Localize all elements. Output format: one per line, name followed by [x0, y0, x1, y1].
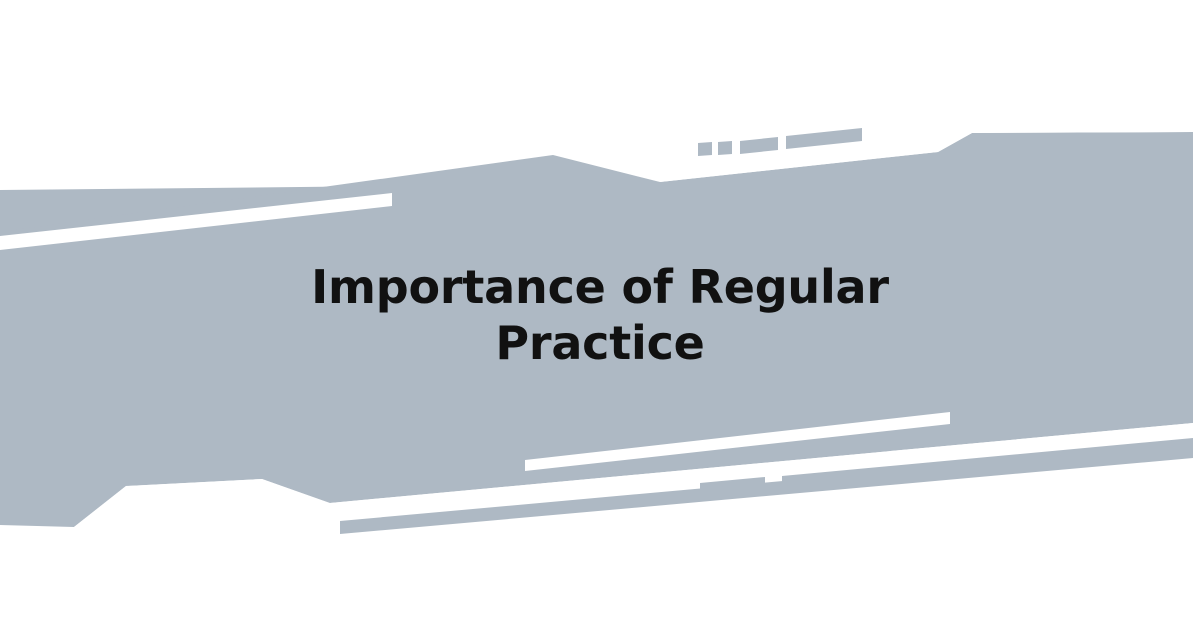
top-dash-mark-1: [698, 142, 712, 156]
banner-background-art: [0, 0, 1200, 630]
banner-graphic: Importance of Regular Practice: [0, 0, 1200, 630]
top-dash-mark-2: [718, 141, 732, 155]
